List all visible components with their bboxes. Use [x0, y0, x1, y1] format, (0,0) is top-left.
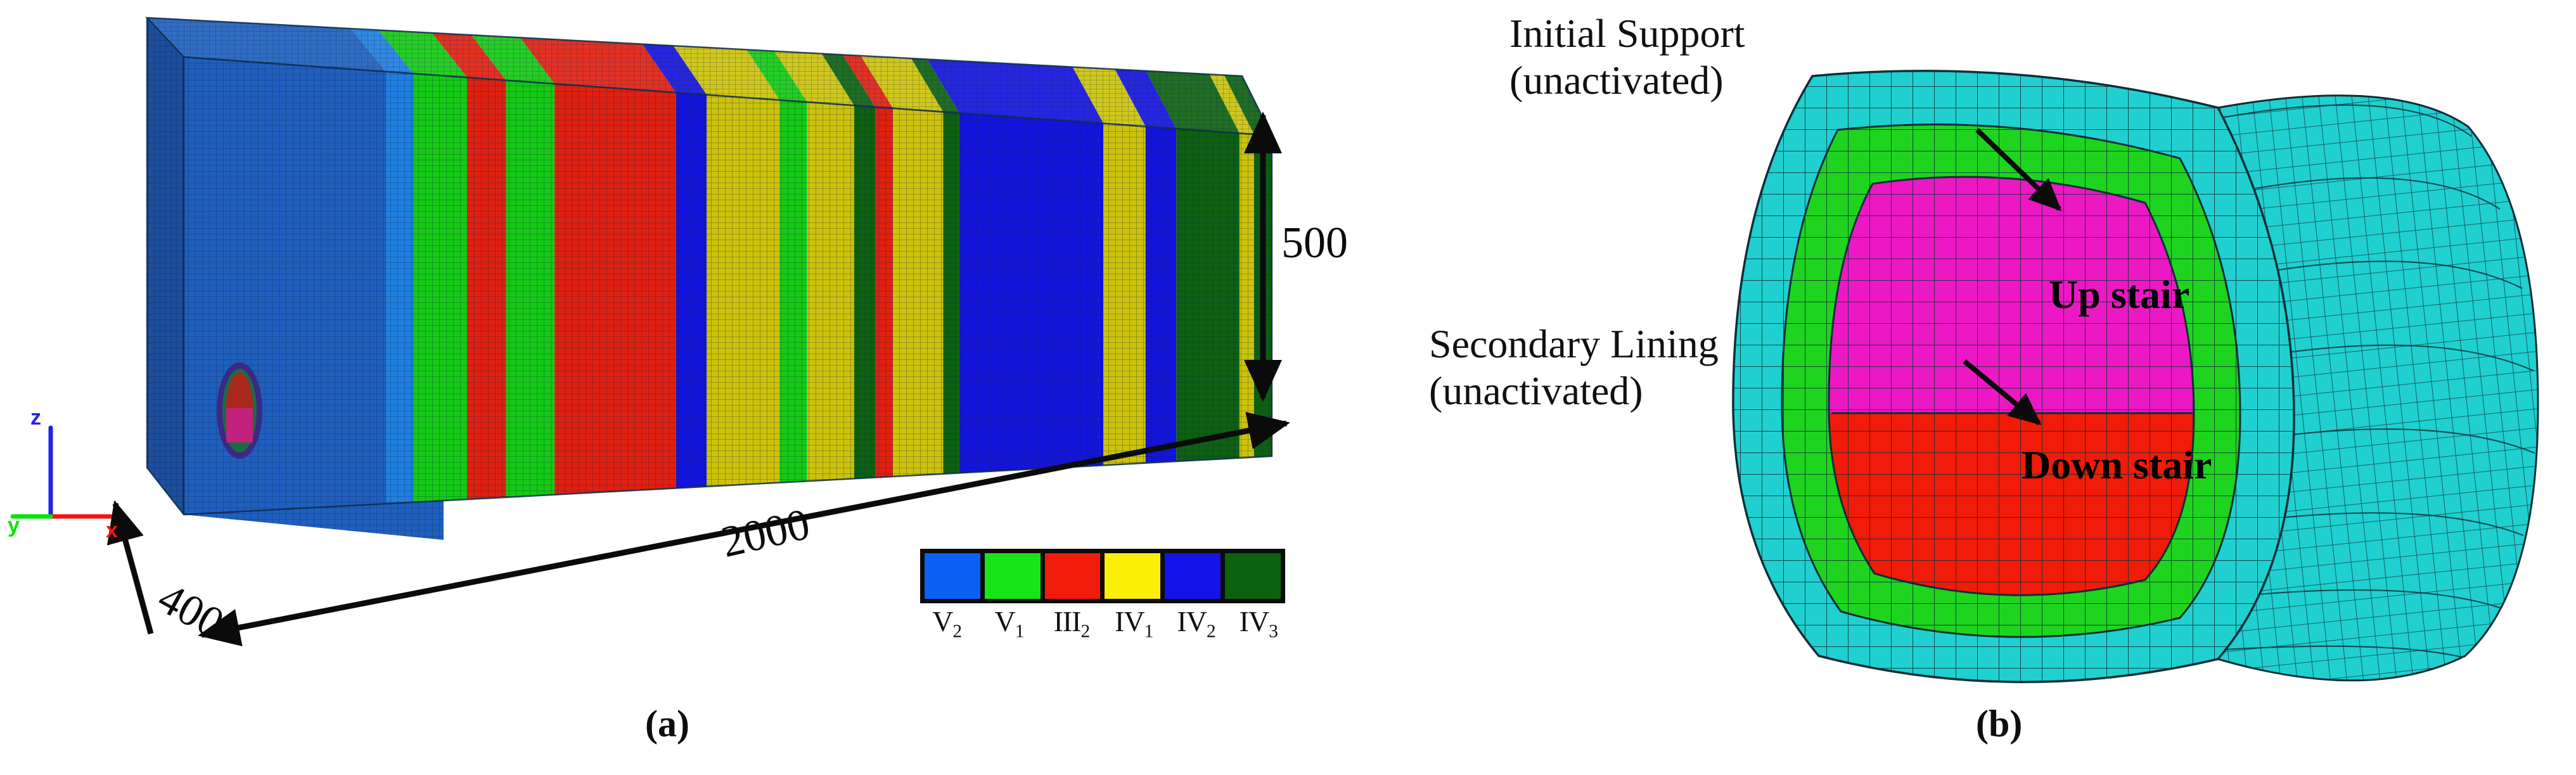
legend-label-V2: V2: [916, 605, 978, 642]
legend-swatch-V1: [985, 553, 1041, 599]
panel-a-graphics: [0, 0, 1331, 775]
legend-swatch-strip: [920, 549, 1285, 603]
callout-secondary-lining-line1: Secondary Lining: [1429, 321, 1719, 368]
legend-label-row: V2V1III2IV1IV2IV3: [916, 605, 1290, 642]
callout-initial-support-line1: Initial Support: [1509, 10, 1745, 57]
rock-grade-legend: V2V1III2IV1IV2IV3: [920, 549, 1290, 642]
legend-label-IV3: IV3: [1227, 605, 1290, 642]
legend-label-V1: V1: [978, 605, 1040, 642]
panel-a-model-mesh: z y x 2000 400 500 V2V1III2IV1IV2IV3: [0, 0, 1331, 775]
caption-panel-a-text: (a): [645, 703, 689, 745]
legend-swatch-IV1: [1105, 553, 1160, 599]
callout-secondary-lining-line2: (unactivated): [1429, 368, 1719, 414]
label-down-stair: Down stair: [2022, 442, 2212, 489]
legend-swatch-V2: [925, 553, 980, 599]
legend-swatch-III2: [1045, 553, 1101, 599]
caption-panel-b: (b): [1976, 702, 2022, 746]
legend-label-IV2: IV2: [1165, 605, 1227, 642]
axis-label-y: y: [8, 513, 20, 538]
callout-initial-support-line2: (unactivated): [1509, 57, 1745, 104]
axis-label-x: x: [106, 518, 118, 543]
figure-root: z y x 2000 400 500 V2V1III2IV1IV2IV3: [0, 0, 2576, 775]
legend-label-IV1: IV1: [1103, 605, 1165, 642]
legend-label-III2: III2: [1041, 605, 1103, 642]
caption-panel-a: (a): [645, 702, 689, 746]
axis-triad: [13, 428, 111, 516]
legend-swatch-IV2: [1165, 553, 1221, 599]
tunnel-cross-section-inset: [217, 362, 262, 459]
callout-secondary-lining: Secondary Lining (unactivated): [1429, 321, 1719, 414]
panel-b-tunnel-mesh: Initial Support (unactivated) Secondary …: [1331, 0, 2576, 775]
caption-panel-b-text: (b): [1976, 703, 2022, 745]
legend-swatch-IV3: [1225, 553, 1281, 599]
callout-initial-support: Initial Support (unactivated): [1509, 10, 1745, 104]
label-up-stair: Up stair: [2049, 271, 2189, 318]
axis-label-z: z: [30, 406, 41, 430]
